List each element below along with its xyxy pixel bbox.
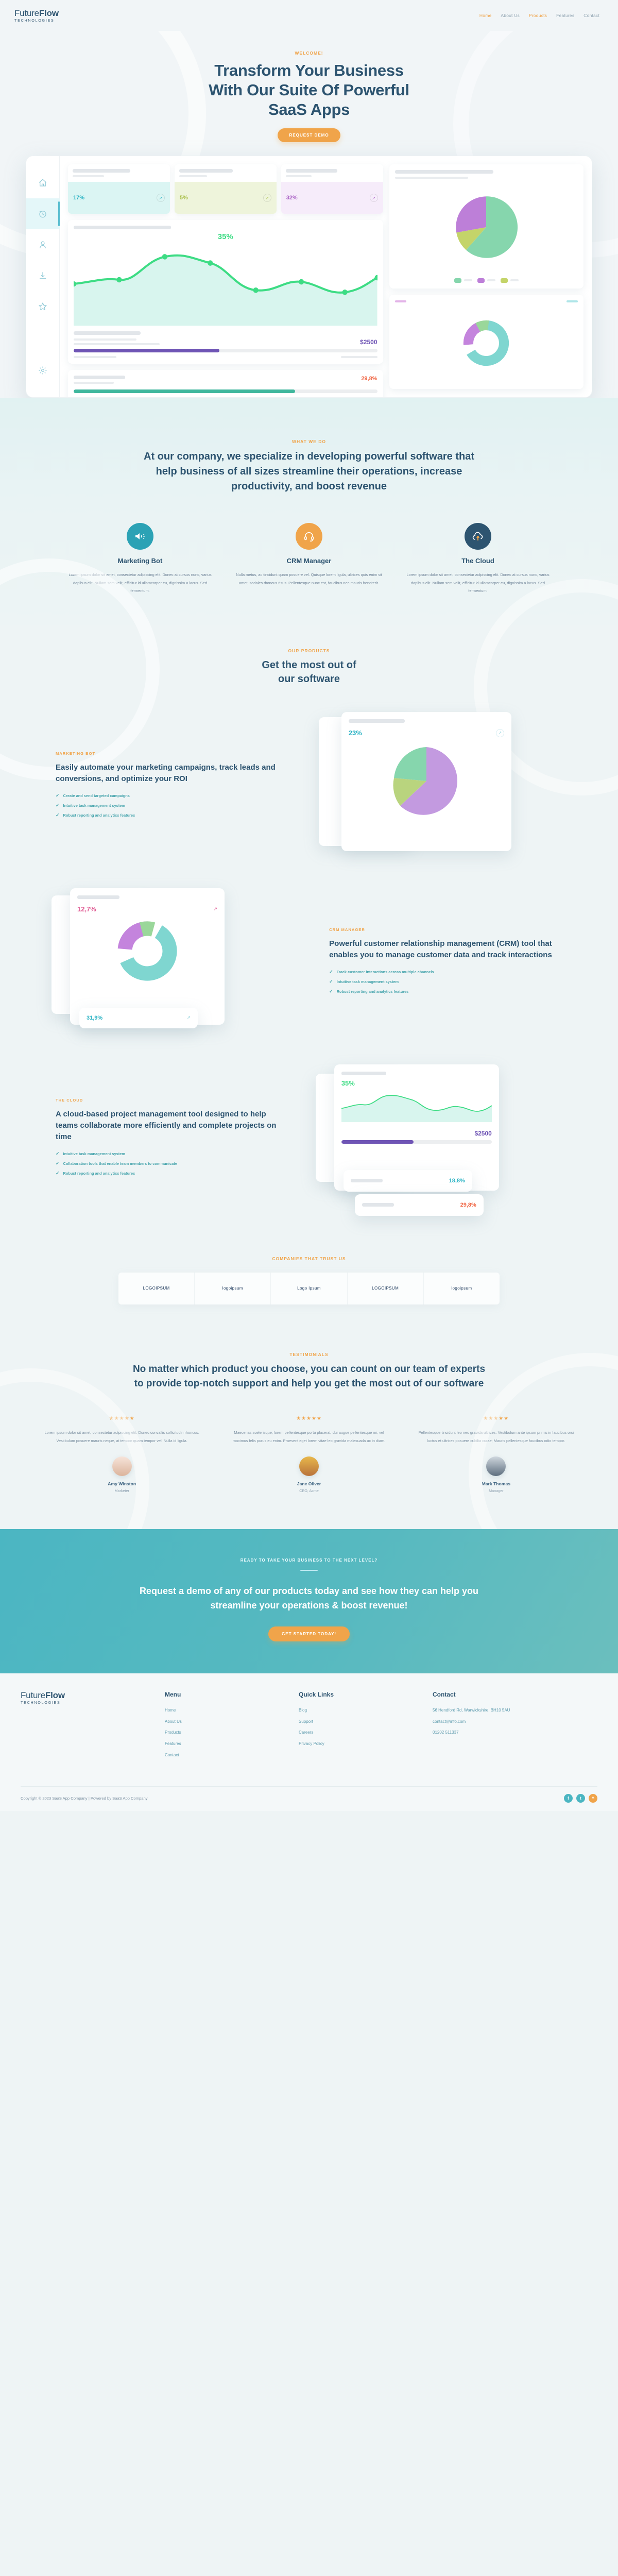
download-icon[interactable] — [26, 260, 60, 291]
footer-brand-tagline: TECHNOLOGIES — [21, 1701, 144, 1704]
feature-card-crm-manager: CRM Manager Nulla metus, ac tincidunt qu… — [231, 523, 387, 595]
dashboard-mockup: 17% ↗ 5% ↗ — [26, 156, 592, 398]
cta-headline: Request a demo of any of our products to… — [124, 1584, 494, 1613]
pie-chart-card — [389, 164, 583, 288]
testimonials-headline: No matter which product you choose, you … — [129, 1362, 489, 1391]
check-icon: ✓ — [329, 989, 333, 994]
star-rating: ★★★★★ — [410, 1416, 582, 1421]
kpi-card: 32% ↗ — [281, 164, 383, 214]
hero-eyebrow: WELCOME! — [0, 50, 618, 56]
site-footer: FutureFlow TECHNOLOGIES Menu Home About … — [0, 1673, 618, 1811]
feature-text: Lorem ipsum dolor sit amet, consectetur … — [62, 571, 218, 595]
product-text: THE CLOUD A cloud-based project manageme… — [46, 1098, 298, 1180]
logos-eyebrow: COMPANIES THAT TRUST US — [0, 1256, 618, 1261]
products-headline: Get the most out of our software — [0, 658, 618, 686]
testimonial-cards: ★★★★★ Lorem ipsum dolor sit amet, consec… — [36, 1416, 582, 1493]
mock-pct-value-2: 18,8% — [449, 1178, 465, 1184]
product-bullets: ✓Track customer interactions across mult… — [329, 969, 562, 994]
testimonial-name: Jane Oliver — [223, 1481, 394, 1486]
check-icon: ✓ — [56, 793, 60, 799]
bullet-label: Robust reporting and analytics features — [63, 1171, 135, 1176]
check-icon: ✓ — [56, 1161, 60, 1166]
testimonial-name: Amy Winston — [36, 1481, 208, 1486]
bullet-item: ✓Collaboration tools that enable team me… — [56, 1161, 289, 1166]
site-header: FutureFlow TECHNOLOGIES Home About Us Pr… — [0, 0, 618, 31]
footer-phone[interactable]: 01202 511337 — [433, 1730, 546, 1736]
star-rating: ★★★★★ — [223, 1416, 394, 1421]
footer-contact-column: Contact 56 Hendford Rd, Warwickshire, BH… — [433, 1691, 546, 1764]
mock-pct-value: 35% — [341, 1079, 492, 1087]
footer-brand[interactable]: FutureFlow TECHNOLOGIES — [21, 1691, 144, 1764]
dashboard-sidebar — [26, 156, 60, 397]
trend-up-icon: ↗ — [157, 194, 165, 202]
product-mockup-crm: 12,7% ↗ 31,9% ↗ — [46, 888, 307, 1038]
avatar — [299, 1456, 319, 1476]
company-logo-label: logoipsum — [451, 1286, 472, 1291]
mock-amount: $2500 — [474, 1130, 491, 1137]
product-eyebrow: MARKETING BOT — [56, 751, 289, 756]
testimonials-section: TESTIMONIALS No matter which product you… — [0, 1322, 618, 1529]
area-chart — [341, 1090, 492, 1122]
mock-pct-value-2: 31,9% — [87, 1015, 102, 1021]
hero-headline-line2: With Our Suite Of Powerful — [209, 81, 409, 99]
hero-headline-line1: Transform Your Business — [214, 61, 404, 79]
bullet-item: ✓Intuitive task management system — [56, 1151, 289, 1157]
brand-name-thin: Future — [14, 8, 39, 18]
footer-link-blog[interactable]: Blog — [299, 1707, 412, 1714]
donut-chart — [114, 918, 180, 984]
footer-link-privacy-policy[interactable]: Privacy Policy — [299, 1741, 412, 1748]
feature-card-the-cloud: The Cloud Lorem ipsum dolor sit amet, co… — [400, 523, 556, 595]
nav-item-home[interactable]: Home — [479, 13, 491, 18]
trend-up-icon: ↗ — [263, 194, 271, 202]
gear-icon[interactable] — [26, 355, 60, 386]
footer-brand-thin: Future — [21, 1690, 45, 1700]
cta-divider — [300, 1570, 318, 1571]
hero-section: WELCOME! Transform Your Business With Ou… — [0, 31, 618, 398]
feature-cards: Marketing Bot Lorem ipsum dolor sit amet… — [62, 523, 556, 595]
footer-link-contact[interactable]: Contact — [165, 1752, 278, 1759]
what-we-do-eyebrow: WHAT WE DO — [0, 439, 618, 444]
facebook-icon[interactable]: f — [564, 1794, 573, 1803]
bullet-item: ✓Robust reporting and analytics features — [56, 1171, 289, 1176]
footer-menu-title: Menu — [165, 1691, 278, 1698]
footer-quick-links-column: Quick Links Blog Support Careers Privacy… — [299, 1691, 412, 1764]
footer-quick-title: Quick Links — [299, 1691, 412, 1698]
product-block-marketing-bot: MARKETING BOT Easily automate your marke… — [46, 699, 572, 875]
trusted-companies-section: COMPANIES THAT TRUST US LOGOIPSUM logoip… — [0, 1227, 618, 1322]
footer-link-careers[interactable]: Careers — [299, 1730, 412, 1736]
feature-title: Marketing Bot — [62, 557, 218, 565]
company-logo-label: Logo Ipsum — [297, 1286, 321, 1291]
feature-text: Lorem ipsum dolor sit amet, consectetur … — [400, 571, 556, 595]
hero-headline: Transform Your Business With Our Suite O… — [0, 61, 618, 119]
mock-pct-value-3: 29,8% — [460, 1202, 476, 1208]
testimonials-eyebrow: TESTIMONIALS — [0, 1352, 618, 1357]
product-block-the-cloud: THE CLOUD A cloud-based project manageme… — [46, 1051, 572, 1227]
check-icon: ✓ — [329, 969, 333, 975]
logo-row: LOGOIPSUM logoipsum Logo Ipsum LOGOIPSUM… — [118, 1273, 500, 1304]
bullet-label: Create and send targeted campaigns — [63, 793, 130, 798]
company-logo: LOGOIPSUM — [348, 1273, 424, 1304]
product-bullets: ✓Intuitive task management system ✓Colla… — [56, 1151, 289, 1176]
nav-item-products[interactable]: Products — [529, 13, 547, 18]
testimonial-quote: Pellentesque tincidunt leo nec gravida u… — [410, 1429, 582, 1445]
kpi-value: 17% — [73, 195, 84, 201]
bullet-item: ✓Robust reporting and analytics features — [56, 812, 289, 818]
feature-card-marketing-bot: Marketing Bot Lorem ipsum dolor sit amet… — [62, 523, 218, 595]
cta-eyebrow: READY TO TAKE YOUR BUSINESS TO THE NEXT … — [0, 1558, 618, 1563]
bullet-label: Robust reporting and analytics features — [63, 813, 135, 818]
feature-text: Nulla metus, ac tincidunt quam posuere v… — [231, 571, 387, 586]
bullet-label: Collaboration tools that enable team mem… — [63, 1161, 177, 1166]
copyright-text: Copyright © 2023 SaaS App Company | Powe… — [21, 1796, 148, 1801]
product-bullets: ✓Create and send targeted campaigns ✓Int… — [56, 793, 289, 818]
kpi-value: 5% — [180, 195, 188, 201]
bullet-label: Intuitive task management system — [63, 1151, 125, 1156]
footer-contact-title: Contact — [433, 1691, 546, 1698]
what-we-do-section: WHAT WE DO At our company, we specialize… — [0, 398, 618, 625]
bullet-item: ✓Intuitive task management system — [56, 803, 289, 808]
kpi-card: 17% ↗ — [68, 164, 170, 214]
product-mockup-cloud: 35% $2500 18,8% 29,8% — [311, 1064, 572, 1214]
product-title: Powerful customer relationship managemen… — [329, 938, 562, 961]
progress-bar — [74, 349, 377, 352]
line-chart-value: 35% — [74, 232, 377, 241]
pie-legend — [395, 278, 578, 283]
product-title: Easily automate your marketing campaigns… — [56, 762, 289, 785]
bullet-label: Intuitive task management system — [337, 979, 399, 984]
progress-value: 29,8% — [361, 376, 377, 382]
product-block-crm-manager: CRM MANAGER Powerful customer relationsh… — [46, 875, 572, 1051]
pie-chart — [388, 742, 465, 820]
nav-item-features[interactable]: Features — [556, 13, 574, 18]
donut-chart-card — [389, 295, 583, 389]
footer-brand-bold: Flow — [45, 1690, 65, 1700]
brand-tagline: TECHNOLOGIES — [14, 19, 59, 22]
cloud-upload-icon — [465, 523, 491, 550]
footer-link-features[interactable]: Features — [165, 1741, 278, 1748]
products-headline-line1: Get the most out of — [262, 659, 356, 671]
trend-up-icon: ↗ — [213, 906, 217, 912]
feature-title: The Cloud — [400, 557, 556, 565]
revenue-amount: $2500 — [360, 338, 377, 346]
testimonial-quote: Maecenas scelerisque, lorem pellentesque… — [223, 1429, 394, 1445]
scroll-top-icon[interactable]: ^ — [589, 1794, 597, 1803]
footer-link-products[interactable]: Products — [165, 1730, 278, 1736]
company-logo-label: logoipsum — [222, 1286, 243, 1291]
hero-headline-line3: SaaS Apps — [268, 100, 350, 118]
page-root: FutureFlow TECHNOLOGIES Home About Us Pr… — [0, 0, 618, 1811]
trend-up-icon: ↗ — [186, 1015, 191, 1021]
company-logo: logoipsum — [424, 1273, 500, 1304]
check-icon: ✓ — [56, 1171, 60, 1176]
what-we-do-headline: At our company, we specialize in develop… — [134, 449, 484, 494]
product-eyebrow: CRM MANAGER — [329, 927, 562, 932]
company-logo-label: LOGOIPSUM — [372, 1286, 399, 1291]
trend-up-icon: ↗ — [496, 729, 504, 737]
product-mockup-marketing: 23% ↗ — [311, 712, 572, 861]
history-icon[interactable] — [26, 198, 60, 229]
products-eyebrow: OUR PRODUCTS — [0, 648, 618, 653]
testimonial-role: CEO, Acme — [223, 1488, 394, 1493]
feature-title: CRM Manager — [231, 557, 387, 565]
mock-pct-value: 23% — [349, 729, 362, 737]
donut-chart — [461, 318, 511, 368]
area-chart — [74, 242, 377, 326]
product-text: MARKETING BOT Easily automate your marke… — [46, 751, 298, 822]
mock-pct-value: 12,7% — [77, 905, 96, 913]
nav-item-contact[interactable]: Contact — [583, 13, 599, 18]
check-icon: ✓ — [56, 1151, 60, 1157]
progress-card: 29,8% — [68, 370, 383, 398]
headset-icon — [296, 523, 322, 550]
testimonial-card: ★★★★★ Lorem ipsum dolor sit amet, consec… — [36, 1416, 208, 1493]
bullet-label: Robust reporting and analytics features — [337, 989, 409, 994]
company-logo: Logo Ipsum — [271, 1273, 347, 1304]
star-rating: ★★★★★ — [36, 1416, 208, 1421]
brand-logo[interactable]: FutureFlow TECHNOLOGIES — [14, 9, 59, 22]
bullet-item: ✓Robust reporting and analytics features — [329, 989, 562, 994]
pie-chart — [453, 194, 520, 261]
megaphone-icon — [127, 523, 153, 550]
footer-link-support[interactable]: Support — [299, 1719, 412, 1725]
brand-name-bold: Flow — [39, 8, 59, 18]
avatar — [486, 1456, 506, 1476]
kpi-card: 5% ↗ — [175, 164, 277, 214]
home-icon[interactable] — [26, 167, 60, 198]
footer-menu-column: Menu Home About Us Products Features Con… — [165, 1691, 278, 1764]
footer-address: 56 Hendford Rd, Warwickshire, BH10 5AU — [433, 1707, 546, 1714]
nav-item-about-us[interactable]: About Us — [501, 13, 520, 18]
check-icon: ✓ — [56, 803, 60, 808]
footer-email[interactable]: contact@info.com — [433, 1719, 546, 1725]
trend-up-icon: ↗ — [370, 194, 378, 202]
main-navigation: Home About Us Products Features Contact — [479, 13, 604, 18]
company-logo: LOGOIPSUM — [118, 1273, 195, 1304]
footer-link-about-us[interactable]: About Us — [165, 1719, 278, 1725]
get-started-button[interactable]: GET STARTED TODAY! — [268, 1626, 350, 1641]
check-icon: ✓ — [56, 812, 60, 818]
bullet-label: Track customer interactions across multi… — [337, 970, 434, 974]
product-title: A cloud-based project management tool de… — [56, 1109, 289, 1142]
check-icon: ✓ — [329, 979, 333, 985]
testimonial-name: Mark Thomas — [410, 1481, 582, 1486]
social-links: f t ^ — [564, 1794, 597, 1803]
avatar — [112, 1456, 132, 1476]
products-heading-section: OUR PRODUCTS Get the most out of our sof… — [0, 625, 618, 699]
bullet-label: Intuitive task management system — [63, 803, 125, 808]
company-logo-label: LOGOIPSUM — [143, 1286, 170, 1291]
footer-link-home[interactable]: Home — [165, 1707, 278, 1714]
testimonial-role: Marketer — [36, 1488, 208, 1493]
testimonial-card: ★★★★★ Maecenas scelerisque, lorem pellen… — [223, 1416, 394, 1493]
request-demo-button[interactable]: REQUEST DEMO — [278, 128, 340, 142]
products-headline-line2: our software — [278, 673, 340, 685]
product-text: CRM MANAGER Powerful customer relationsh… — [320, 927, 572, 998]
star-icon[interactable] — [26, 291, 60, 322]
bullet-item: ✓Track customer interactions across mult… — [329, 969, 562, 975]
bullet-item: ✓Create and send targeted campaigns — [56, 793, 289, 799]
testimonial-card: ★★★★★ Pellentesque tincidunt leo nec gra… — [410, 1416, 582, 1493]
line-chart-card: 35% — [68, 220, 383, 363]
bullet-item: ✓Intuitive task management system — [329, 979, 562, 985]
twitter-icon[interactable]: t — [576, 1794, 585, 1803]
kpi-value: 32% — [286, 195, 298, 201]
cta-section: READY TO TAKE YOUR BUSINESS TO THE NEXT … — [0, 1529, 618, 1673]
product-eyebrow: THE CLOUD — [56, 1098, 289, 1103]
testimonial-role: Manager — [410, 1488, 582, 1493]
kpi-row: 17% ↗ 5% ↗ — [68, 164, 383, 214]
user-icon[interactable] — [26, 229, 60, 260]
testimonial-quote: Lorem ipsum dolor sit amet, consectetur … — [36, 1429, 208, 1445]
company-logo: logoipsum — [195, 1273, 271, 1304]
